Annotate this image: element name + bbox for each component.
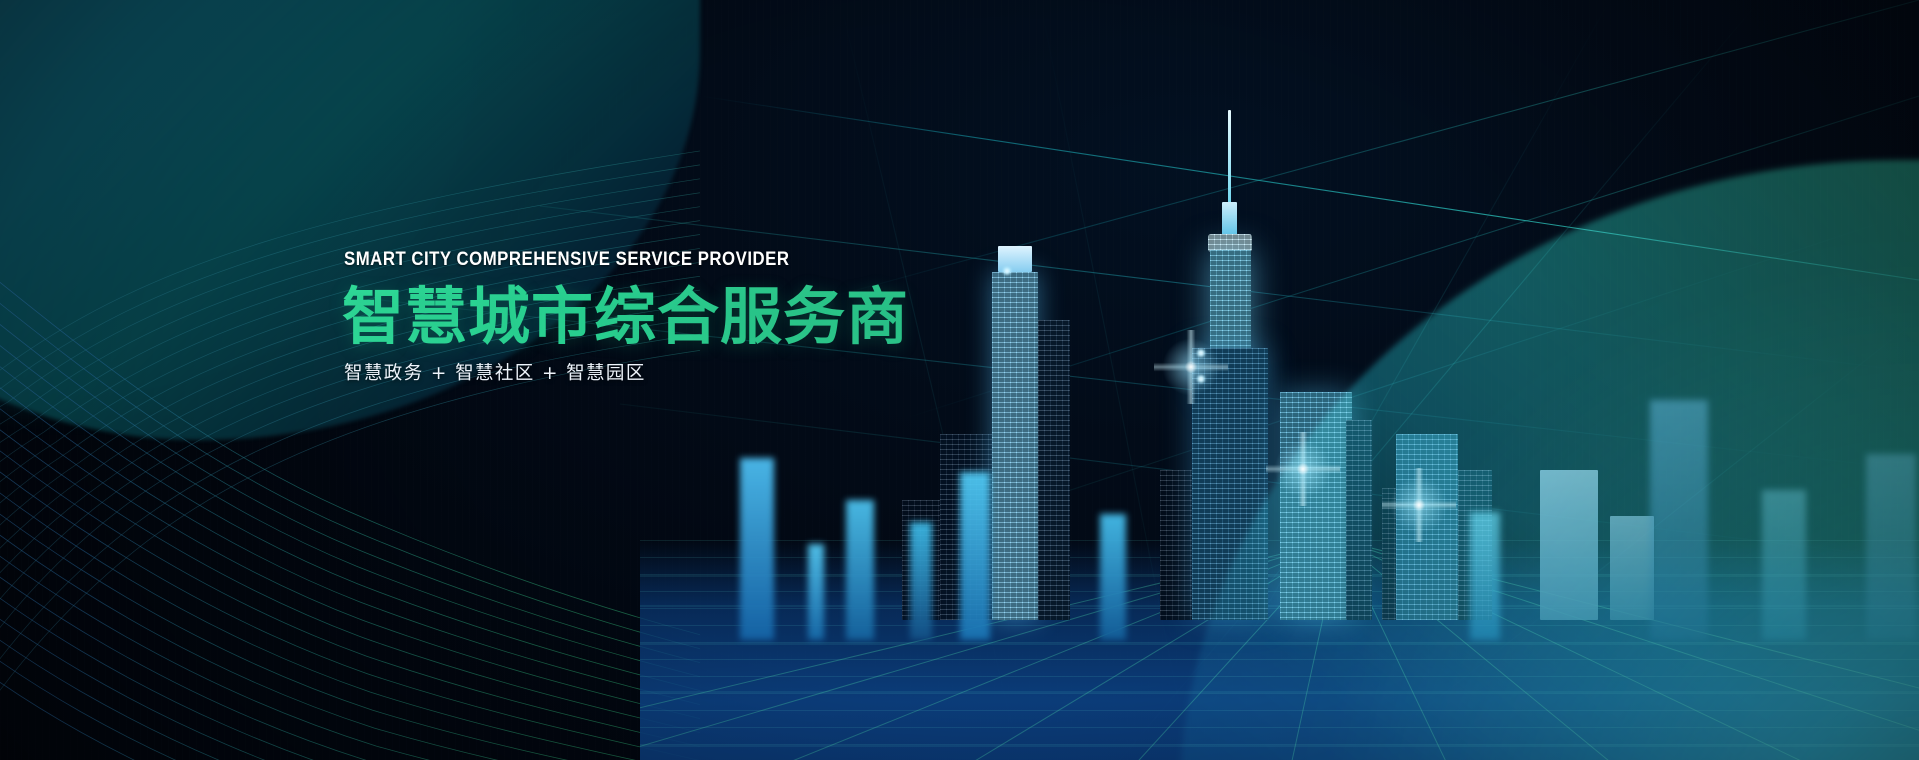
landmark-spire: [1228, 110, 1231, 206]
foreground-bar: [808, 544, 824, 640]
foreground-bar: [740, 458, 774, 640]
wireframe-mesh-decoration: [0, 120, 700, 760]
foreground-bar: [1100, 514, 1126, 640]
building-tower-slim-dark: [1038, 320, 1070, 620]
tower-light-glow: [1002, 266, 1012, 276]
foreground-bar: [910, 522, 932, 640]
hero-copy: SMART CITY COMPREHENSIVE SERVICE PROVIDE…: [342, 250, 982, 384]
building-tower-slim: [992, 272, 1038, 620]
landmark-spire-base: [1222, 202, 1237, 236]
foreground-bar: [846, 500, 874, 640]
hero-banner: SMART CITY COMPREHENSIVE SERVICE PROVIDE…: [0, 0, 1919, 760]
hero-headline: 智慧城市综合服务商: [342, 284, 982, 350]
hero-tagline: 智慧政务 + 智慧社区 + 智慧园区: [344, 365, 982, 384]
foreground-bar: [960, 472, 990, 640]
landmark-light-glow: [1196, 348, 1206, 358]
landmark-light-glow: [1196, 374, 1206, 384]
hero-eyebrow: SMART CITY COMPREHENSIVE SERVICE PROVIDE…: [344, 250, 893, 270]
